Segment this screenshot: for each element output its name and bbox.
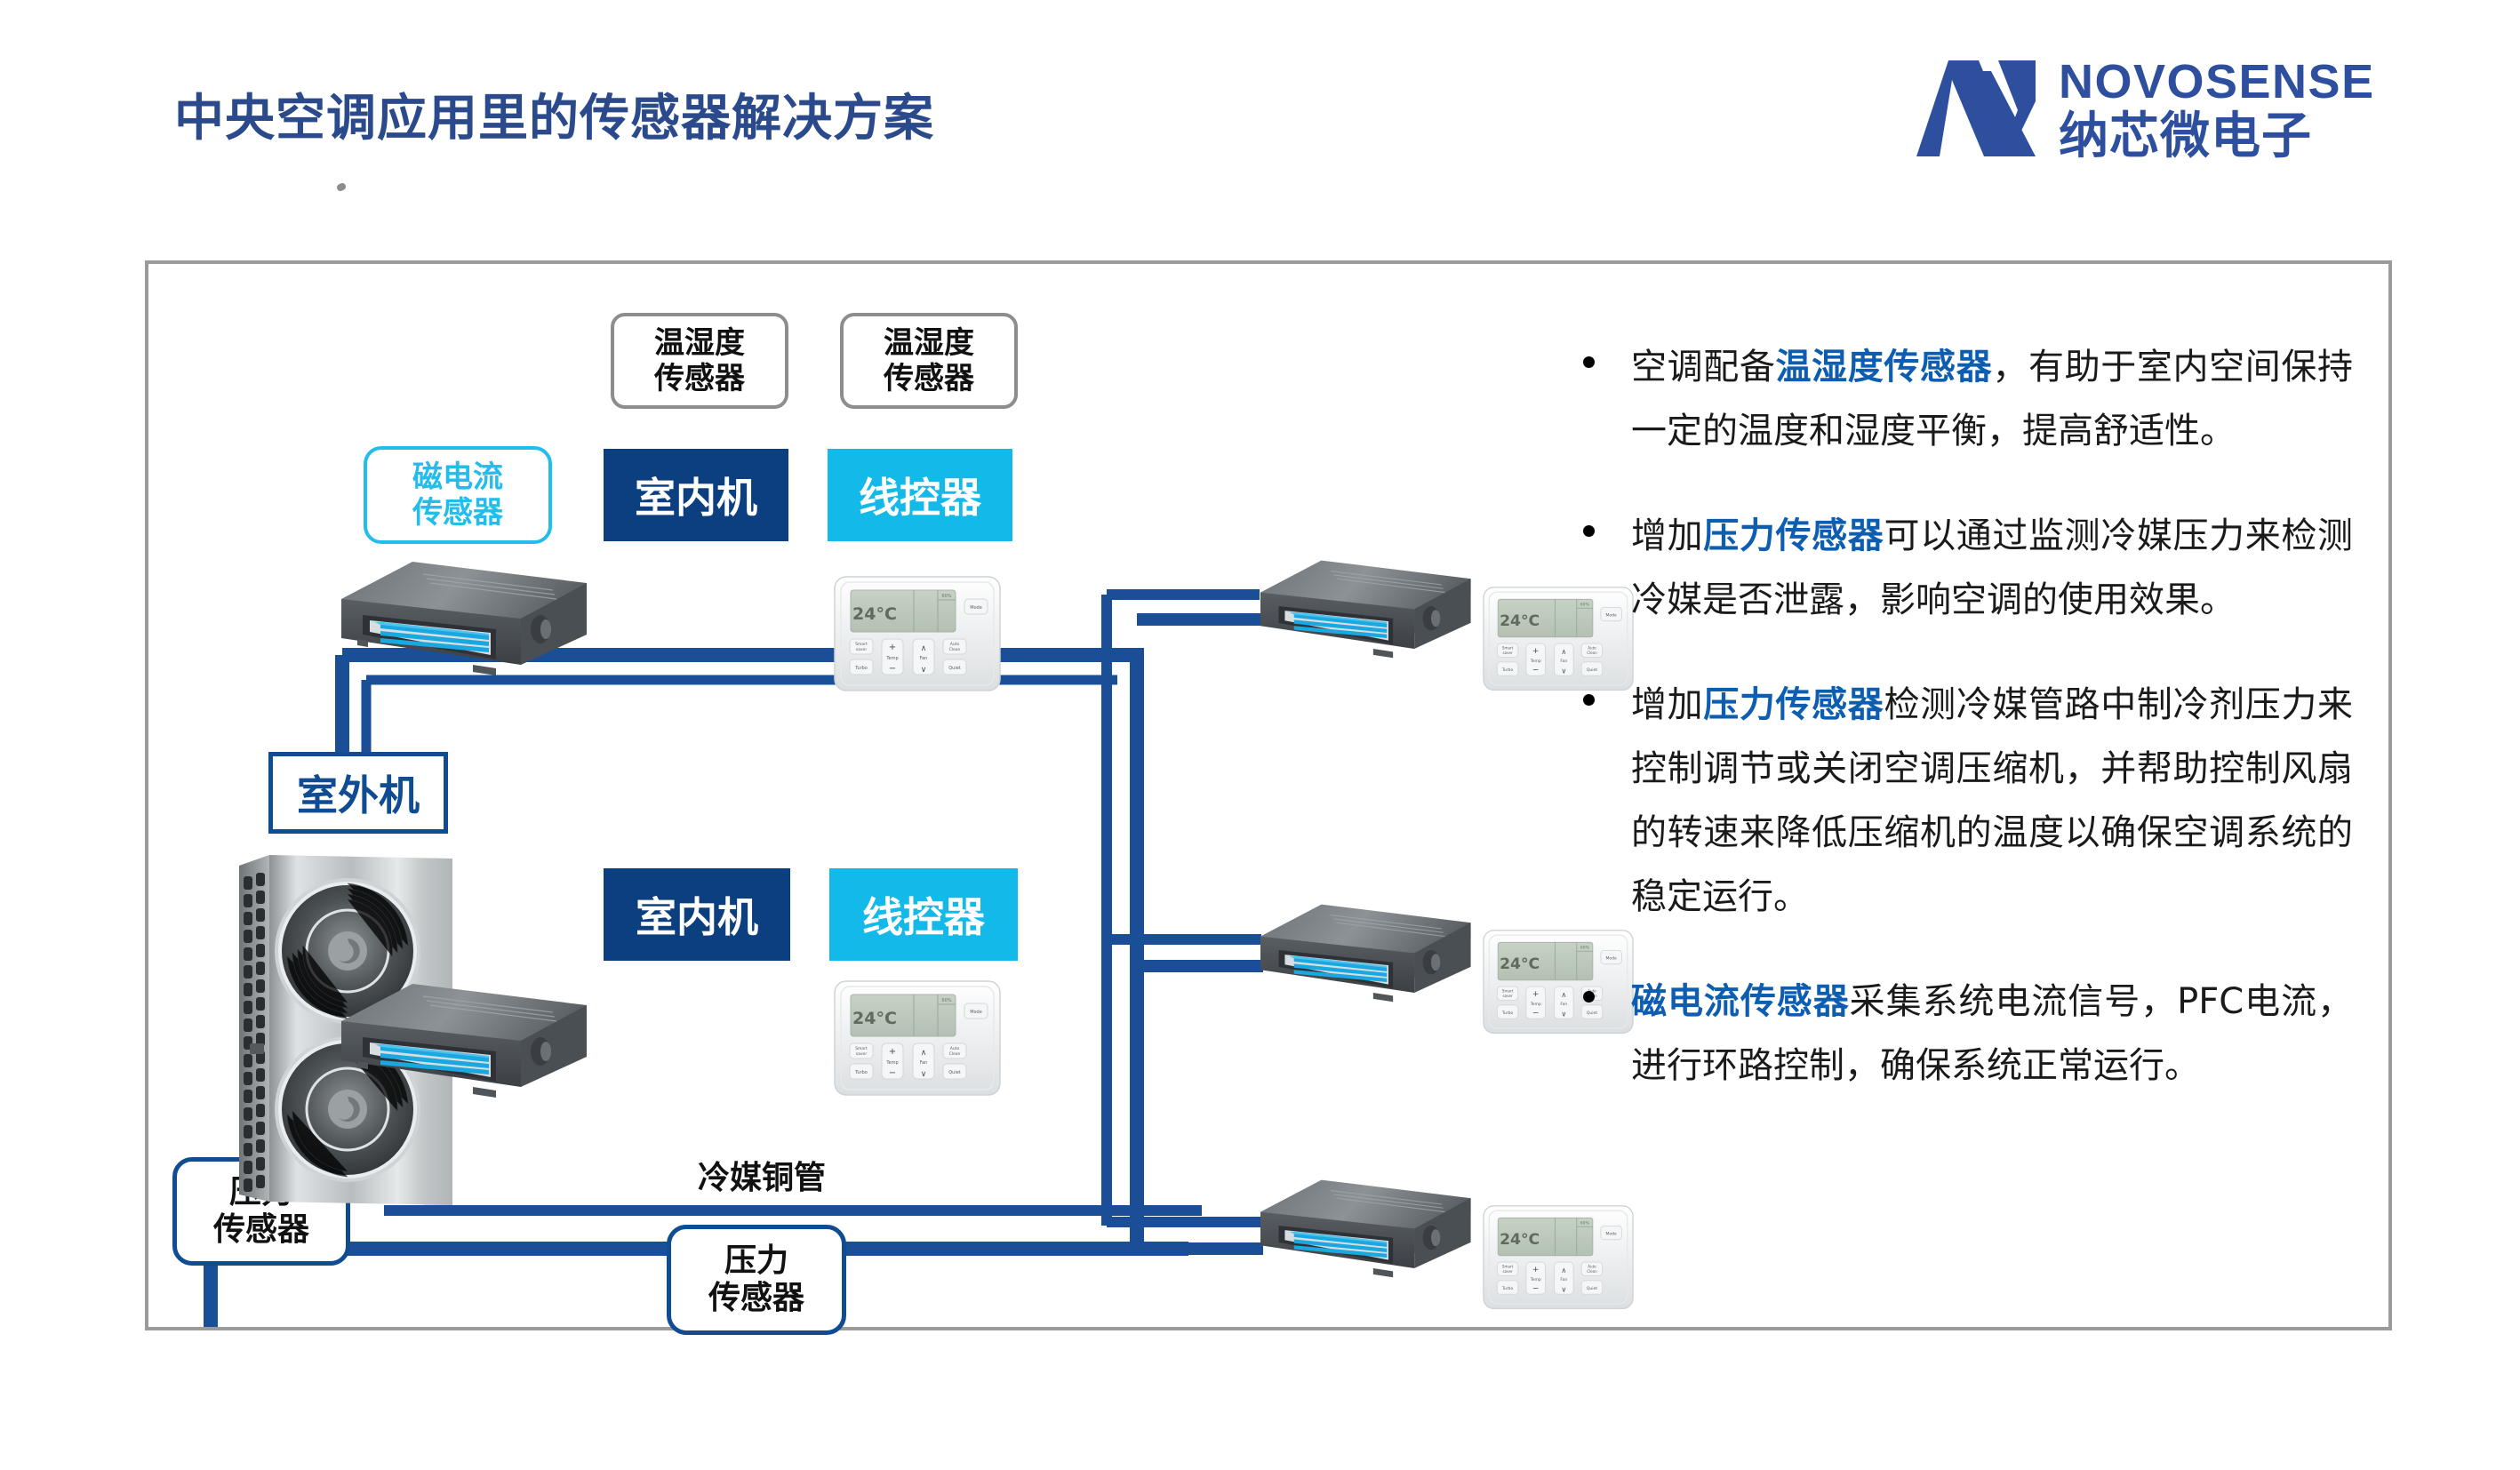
label-temp-humidity-sensor-top-1[interactable]: 温湿度 传感器 (611, 313, 788, 409)
svg-text:+: + (1532, 990, 1540, 999)
svg-text:Temp: Temp (1530, 1002, 1541, 1007)
bullet-dot-icon (1583, 991, 1595, 1003)
svg-text:24°C: 24°C (1500, 955, 1540, 973)
svg-text:Smart: Smart (1502, 645, 1514, 650)
label-temp-humidity-sensor-top-2[interactable]: 温湿度 传感器 (840, 313, 1018, 409)
indoor-duct-unit-right-1 (1251, 553, 1473, 659)
svg-text:∨: ∨ (1561, 1285, 1566, 1294)
svg-text:Temp: Temp (885, 1060, 898, 1066)
label-text: 磁电流 传感器 (412, 459, 503, 531)
body-text: 增加 (1631, 515, 1703, 556)
bullet-item-1: 空调配备温湿度传感器，有助于室内空间保持一定的温度和湿度平衡，提高舒适性。 (1571, 335, 2353, 463)
svg-text:Clean: Clean (949, 1051, 961, 1057)
label-text: 压力 传感器 (708, 1242, 804, 1318)
highlight-term: 压力传感器 (1703, 515, 1884, 556)
svg-text:+: + (889, 1047, 896, 1057)
label-text: 线控器 (859, 466, 981, 524)
bullet-item-3: 增加压力传感器检测冷媒管路中制冷剂压力来控制调节或关闭空调压缩机，并帮助控制风扇… (1571, 673, 2353, 929)
svg-text:Turbo: Turbo (1501, 1286, 1514, 1291)
svg-text:Turbo: Turbo (854, 1070, 868, 1075)
svg-text:Fan: Fan (920, 1060, 928, 1066)
svg-text:Turbo: Turbo (1501, 1011, 1514, 1016)
label-text: 线控器 (862, 885, 985, 944)
svg-text:−: − (1532, 1010, 1540, 1019)
indoor-duct-unit-top-left (331, 553, 588, 677)
svg-text:Auto: Auto (950, 1046, 960, 1051)
svg-text:Quiet: Quiet (948, 666, 961, 671)
bullet-text-1: 空调配备温湿度传感器，有助于室内空间保持一定的温度和湿度平衡，提高舒适性。 (1631, 335, 2353, 463)
svg-text:Quiet: Quiet (1587, 1286, 1597, 1291)
svg-text:∧: ∧ (1561, 647, 1566, 656)
svg-text:Temp: Temp (885, 656, 898, 661)
content-frame: 温湿度 传感器 温湿度 传感器 磁电流 传感器 室内机 线控器 室外机 室内机 … (145, 260, 2392, 1330)
svg-text:Mode: Mode (1606, 1231, 1617, 1236)
svg-text:+: + (1532, 647, 1540, 656)
svg-text:∧: ∧ (921, 1049, 927, 1058)
label-text: 冷媒铜管 (698, 1152, 826, 1198)
label-indoor-unit-top[interactable]: 室内机 (604, 449, 788, 541)
wired-controller-right-3[interactable]: 24°C 60% Mode Smart saver Turbo + Temp −… (1482, 1204, 1635, 1313)
indoor-duct-unit-mid-left (331, 975, 588, 1099)
label-text: 室外机 (297, 763, 420, 822)
label-text: 室内机 (635, 466, 757, 524)
svg-text:Fan: Fan (1560, 1002, 1567, 1007)
svg-text:∨: ∨ (921, 1070, 927, 1079)
indoor-duct-unit-right-2 (1251, 897, 1473, 1003)
svg-text:Smart: Smart (1502, 988, 1514, 993)
svg-text:Clean: Clean (1587, 1269, 1597, 1274)
svg-text:∨: ∨ (1561, 667, 1566, 675)
label-wired-controller-mid[interactable]: 线控器 (829, 868, 1018, 961)
bullet-item-2: 增加压力传感器可以通过监测冷媒压力来检测冷媒是否泄露，影响空调的使用效果。 (1571, 504, 2353, 632)
label-indoor-unit-mid[interactable]: 室内机 (604, 868, 790, 961)
highlight-term: 压力传感器 (1703, 684, 1884, 725)
svg-text:−: − (889, 664, 896, 674)
bullet-text-3: 增加压力传感器检测冷媒管路中制冷剂压力来控制调节或关闭空调压缩机，并帮助控制风扇… (1631, 673, 2353, 929)
svg-text:Temp: Temp (1530, 659, 1541, 664)
svg-text:Quiet: Quiet (948, 1070, 961, 1075)
wired-controller-top-left[interactable]: 24°C 60% Mode Smart saver Turbo + Temp −… (833, 575, 1002, 695)
page-title: 中央空调应用里的传感器解决方案 (174, 78, 934, 150)
label-text: 温湿度 传感器 (884, 325, 974, 396)
svg-text:∨: ∨ (921, 666, 927, 675)
bullet-item-4: 磁电流传感器采集系统电流信号，PFC电流，进行环路控制，确保系统正常运行。 (1571, 970, 2353, 1098)
svg-text:60%: 60% (941, 594, 951, 599)
svg-text:Auto: Auto (950, 642, 960, 647)
label-refrigerant-copper-pipe: 冷媒铜管 (655, 1153, 868, 1197)
novosense-n-mark-icon (1909, 57, 2043, 162)
svg-text:Smart: Smart (855, 642, 868, 647)
svg-text:saver: saver (1502, 1269, 1512, 1274)
body-text: 增加 (1631, 684, 1703, 725)
svg-text:Turbo: Turbo (1501, 667, 1514, 673)
highlight-term: 磁电流传感器 (1631, 981, 1850, 1022)
wired-controller-mid-left[interactable]: 24°C 60% Mode Smart saver Turbo + Temp −… (833, 979, 1002, 1099)
svg-text:saver: saver (856, 1051, 868, 1057)
svg-text:∧: ∧ (1561, 990, 1566, 999)
svg-text:Mode: Mode (970, 605, 982, 611)
highlight-term: 温湿度传感器 (1776, 347, 1993, 387)
svg-text:Smart: Smart (855, 1046, 868, 1051)
bullet-dot-icon (1583, 525, 1595, 537)
label-temp-humidity-sensor-1[interactable] (339, 183, 346, 190)
svg-text:24°C: 24°C (852, 1009, 897, 1028)
svg-text:Temp: Temp (1530, 1277, 1541, 1282)
bullet-list: 空调配备温湿度传感器，有助于室内空间保持一定的温度和湿度平衡，提高舒适性。 增加… (1571, 335, 2353, 1138)
svg-text:−: − (1532, 1285, 1540, 1294)
svg-text:24°C: 24°C (1500, 1231, 1540, 1249)
svg-text:saver: saver (1502, 994, 1512, 998)
label-text: 温湿度 传感器 (654, 325, 745, 396)
bullet-dot-icon (1583, 694, 1595, 706)
svg-text:Fan: Fan (1560, 1277, 1567, 1282)
svg-text:saver: saver (1502, 651, 1512, 655)
label-pressure-sensor-pipe[interactable]: 压力 传感器 (667, 1225, 846, 1335)
svg-text:Smart: Smart (1502, 1264, 1514, 1268)
body-text: 空调配备 (1631, 347, 1776, 387)
svg-text:60%: 60% (941, 998, 951, 1003)
logo-text-en: NOVOSENSE (2059, 55, 2414, 108)
svg-text:∧: ∧ (1561, 1266, 1566, 1274)
svg-text:24°C: 24°C (1500, 612, 1540, 630)
label-text: 室内机 (636, 885, 758, 944)
indoor-duct-unit-right-3 (1251, 1172, 1473, 1279)
svg-text:+: + (1532, 1266, 1540, 1274)
svg-text:Auto: Auto (1588, 1264, 1596, 1268)
svg-text:saver: saver (856, 647, 868, 652)
svg-text:∨: ∨ (1561, 1010, 1566, 1019)
bullet-text-4: 磁电流传感器采集系统电流信号，PFC电流，进行环路控制，确保系统正常运行。 (1631, 970, 2353, 1098)
logo-text-cn: 纳芯微电子 (2059, 108, 2414, 164)
novosense-logo: NOVOSENSE 纳芯微电子 (1909, 55, 2407, 164)
svg-text:Fan: Fan (920, 656, 928, 661)
svg-text:Fan: Fan (1560, 659, 1567, 664)
svg-text:24°C: 24°C (852, 604, 897, 624)
svg-text:Turbo: Turbo (854, 666, 868, 671)
logo-wordmark: NOVOSENSE 纳芯微电子 (2059, 55, 2414, 164)
svg-text:−: − (1532, 667, 1540, 675)
svg-text:Mode: Mode (970, 1010, 982, 1015)
label-outdoor-unit[interactable]: 室外机 (268, 752, 448, 834)
svg-text:60%: 60% (1580, 1221, 1590, 1226)
svg-text:∧: ∧ (921, 644, 927, 653)
slide-canvas: 中央空调应用里的传感器解决方案 NOVOSENSE 纳芯微电子 (0, 0, 2520, 1470)
label-wired-controller-top[interactable]: 线控器 (828, 449, 1012, 541)
label-magnetic-current-sensor[interactable]: 磁电流 传感器 (364, 446, 552, 544)
svg-text:−: − (889, 1068, 896, 1078)
bullet-dot-icon (1583, 356, 1595, 368)
svg-text:+: + (889, 643, 896, 652)
svg-text:Clean: Clean (949, 647, 961, 652)
bullet-text-2: 增加压力传感器可以通过监测冷媒压力来检测冷媒是否泄露，影响空调的使用效果。 (1631, 504, 2353, 632)
